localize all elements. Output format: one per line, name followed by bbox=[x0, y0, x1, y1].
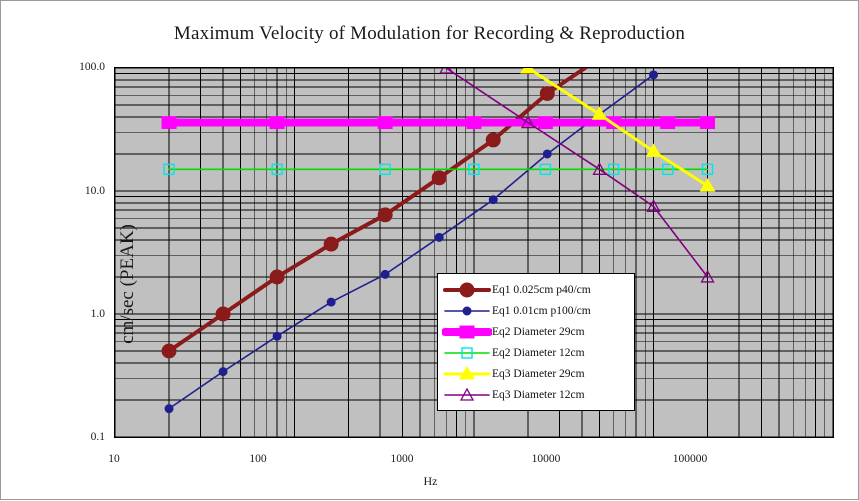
legend-swatch-icon bbox=[442, 302, 492, 320]
legend-item-label: Eq2 Diameter 12cm bbox=[492, 347, 585, 359]
chart-page: Maximum Velocity of Modulation for Recor… bbox=[0, 0, 859, 500]
x-axis-title: Hz bbox=[1, 474, 859, 489]
legend-item[interactable]: Eq1 0.01cm p100/cm bbox=[442, 300, 630, 321]
x-tick-label: 1000 bbox=[391, 453, 414, 465]
legend-item[interactable]: Eq2 Diameter 12cm bbox=[442, 342, 630, 363]
legend-swatch-icon bbox=[442, 365, 492, 383]
x-tick-label: 10 bbox=[108, 453, 120, 465]
y-axis-title: cm/sec (PEAK) bbox=[117, 184, 139, 384]
legend-item[interactable]: Eq3 Diameter 12cm bbox=[442, 384, 630, 405]
legend-item[interactable]: Eq1 0.025cm p40/cm bbox=[442, 279, 630, 300]
legend-swatch-icon bbox=[442, 323, 492, 341]
legend-item-label: Eq1 0.025cm p40/cm bbox=[492, 284, 591, 296]
legend-swatch-icon bbox=[442, 386, 492, 404]
legend-item-label: Eq2 Diameter 29cm bbox=[492, 326, 585, 338]
legend: Eq1 0.025cm p40/cmEq1 0.01cm p100/cmEq2 … bbox=[437, 273, 635, 411]
x-tick-label: 10000 bbox=[532, 453, 561, 465]
legend-item-label: Eq3 Diameter 12cm bbox=[492, 389, 585, 401]
legend-item-label: Eq3 Diameter 29cm bbox=[492, 368, 585, 380]
legend-item[interactable]: Eq3 Diameter 29cm bbox=[442, 363, 630, 384]
x-tick-label: 100 bbox=[249, 453, 266, 465]
legend-item-label: Eq1 0.01cm p100/cm bbox=[492, 305, 591, 317]
legend-item[interactable]: Eq2 Diameter 29cm bbox=[442, 321, 630, 342]
legend-swatch-icon bbox=[442, 281, 492, 299]
legend-swatch-icon bbox=[442, 344, 492, 362]
x-tick-label: 100000 bbox=[673, 453, 708, 465]
